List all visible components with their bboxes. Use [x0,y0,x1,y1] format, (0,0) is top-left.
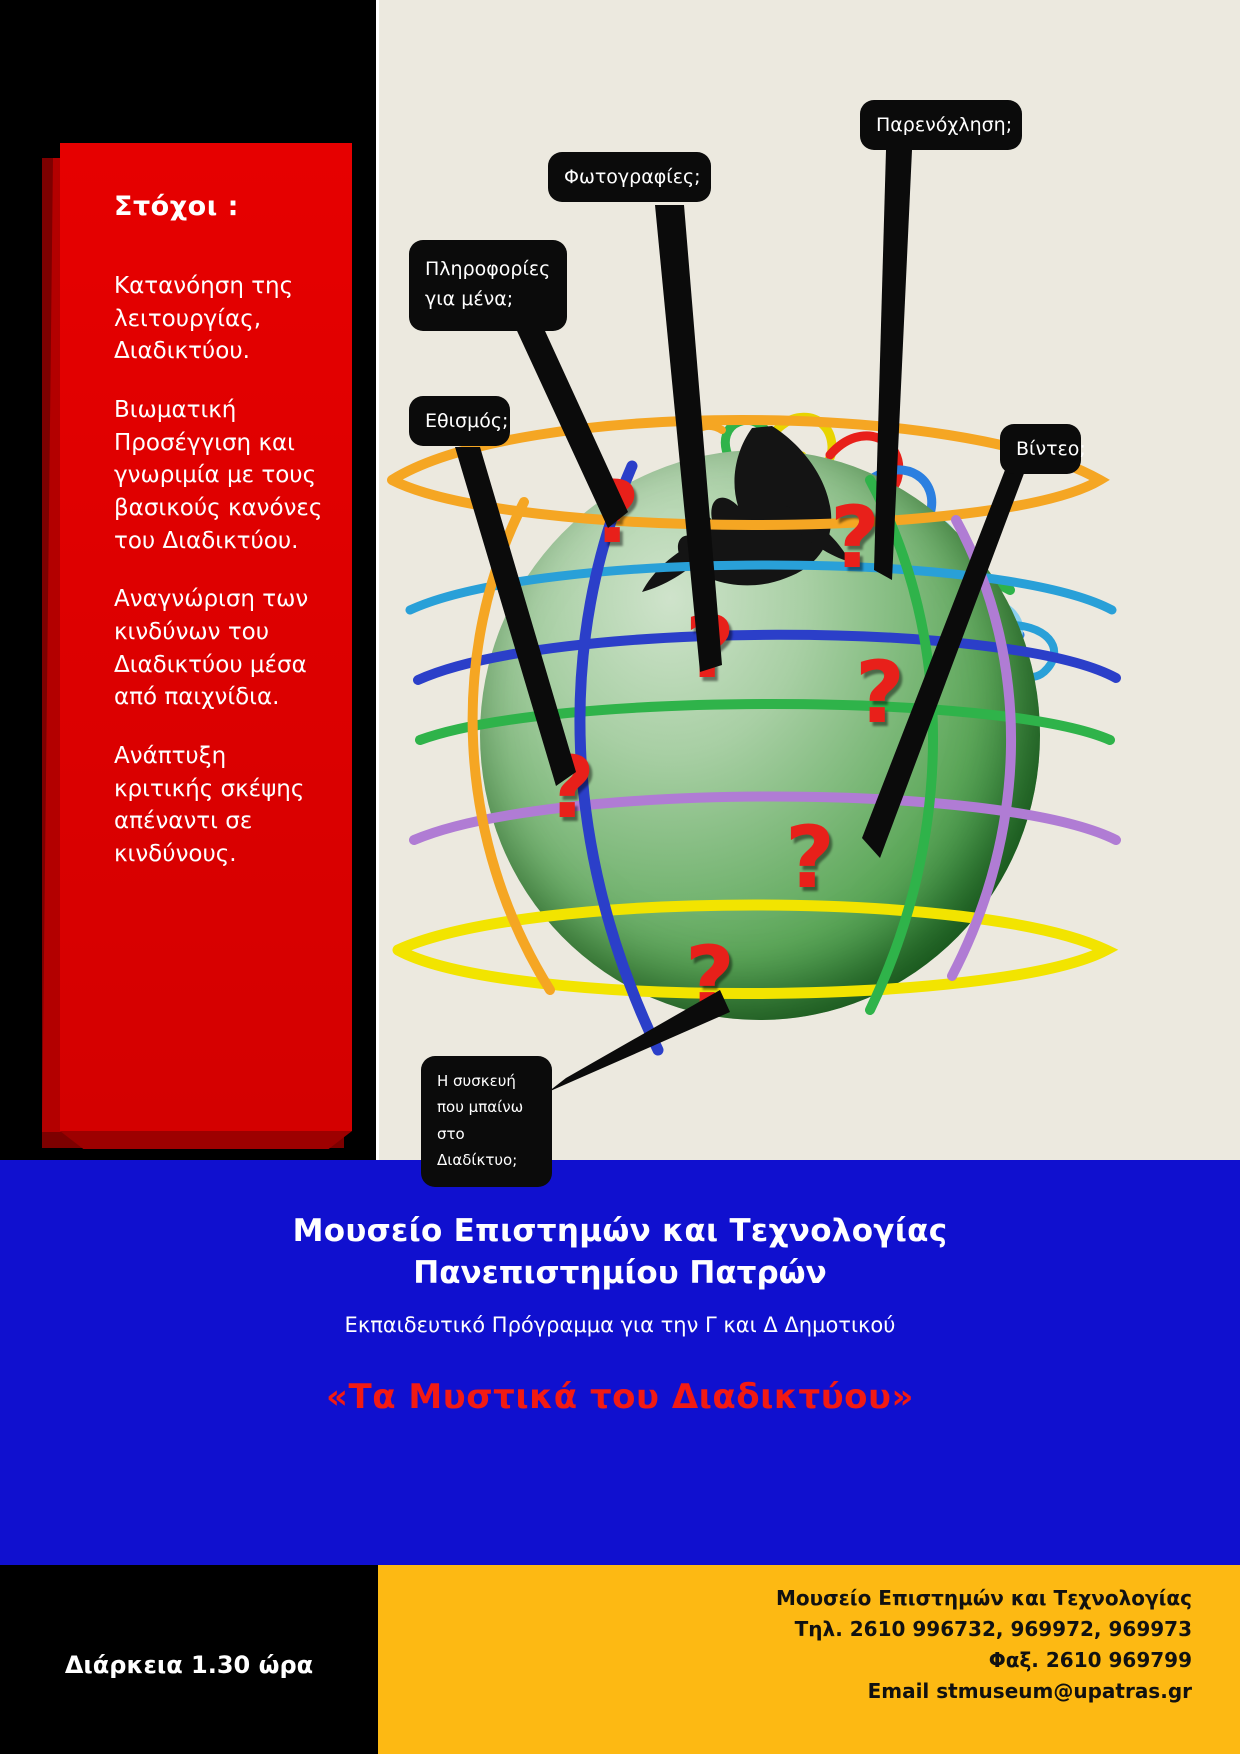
tail-parenochlisi [874,150,912,580]
duration-panel: Διάρκεια 1.30 ώρα [0,1565,378,1754]
bubble-label: Πληροφορίες για μένα; [425,258,550,310]
tail-fotografies [655,205,722,672]
museum-name-line2: Πανεπιστημίου Πατρών [0,1255,1240,1291]
program-description: Εκπαιδευτικό Πρόγραμμα για την Γ και Δ Δ… [0,1313,1240,1337]
poster-top-stage: Στόχοι : Κατανόηση της λειτουργίας, Διαδ… [0,0,1240,1160]
bubble-label: Παρενόχληση; [876,114,1012,136]
tail-syskevi [548,990,730,1092]
bubble-parenochlisi[interactable]: Παρενόχληση; [860,100,1022,150]
contact-panel: Μουσείο Επιστημών και Τεχνολογίας Τηλ. 2… [378,1565,1240,1754]
bubble-label: Βίντεο; [1016,438,1086,460]
bubble-fotografies[interactable]: Φωτογραφίες; [548,152,711,202]
footer-blue-band: Μουσείο Επιστημών και Τεχνολογίας Πανεπι… [0,1160,1240,1565]
tail-ethismos [455,447,576,786]
tail-plirofories [512,320,628,528]
bubble-label: Η συσκευή που μπαίνω στο Διαδίκτυο; [437,1072,523,1169]
bubble-label: Εθισμός; [425,410,508,432]
contact-details: Μουσείο Επιστημών και Τεχνολογίας Τηλ. 2… [378,1565,1240,1707]
museum-name-line1: Μουσείο Επιστημών και Τεχνολογίας [0,1160,1240,1249]
contact-phone: Τηλ. 2610 996732, 969972, 969973 [378,1614,1192,1645]
bubble-plirofories[interactable]: Πληροφορίες για μένα; [409,240,567,331]
bubble-ethismos[interactable]: Εθισμός; [409,396,510,446]
poster: Στόχοι : Κατανόηση της λειτουργίας, Διαδ… [0,0,1240,1754]
contact-email[interactable]: Email stmuseum@upatras.gr [378,1676,1192,1707]
duration-label: Διάρκεια 1.30 ώρα [0,1651,378,1679]
bubble-syskevi[interactable]: Η συσκευή που μπαίνω στο Διαδίκτυο; [421,1056,552,1187]
contact-museum-name: Μουσείο Επιστημών και Τεχνολογίας [378,1583,1192,1614]
contact-fax: Φαξ. 2610 969799 [378,1645,1192,1676]
show-title: «Τα Μυστικά του Διαδικτύου» [0,1377,1240,1417]
bubble-vinteo[interactable]: Βίντεο; [1000,424,1081,474]
bubble-label: Φωτογραφίες; [564,166,701,188]
